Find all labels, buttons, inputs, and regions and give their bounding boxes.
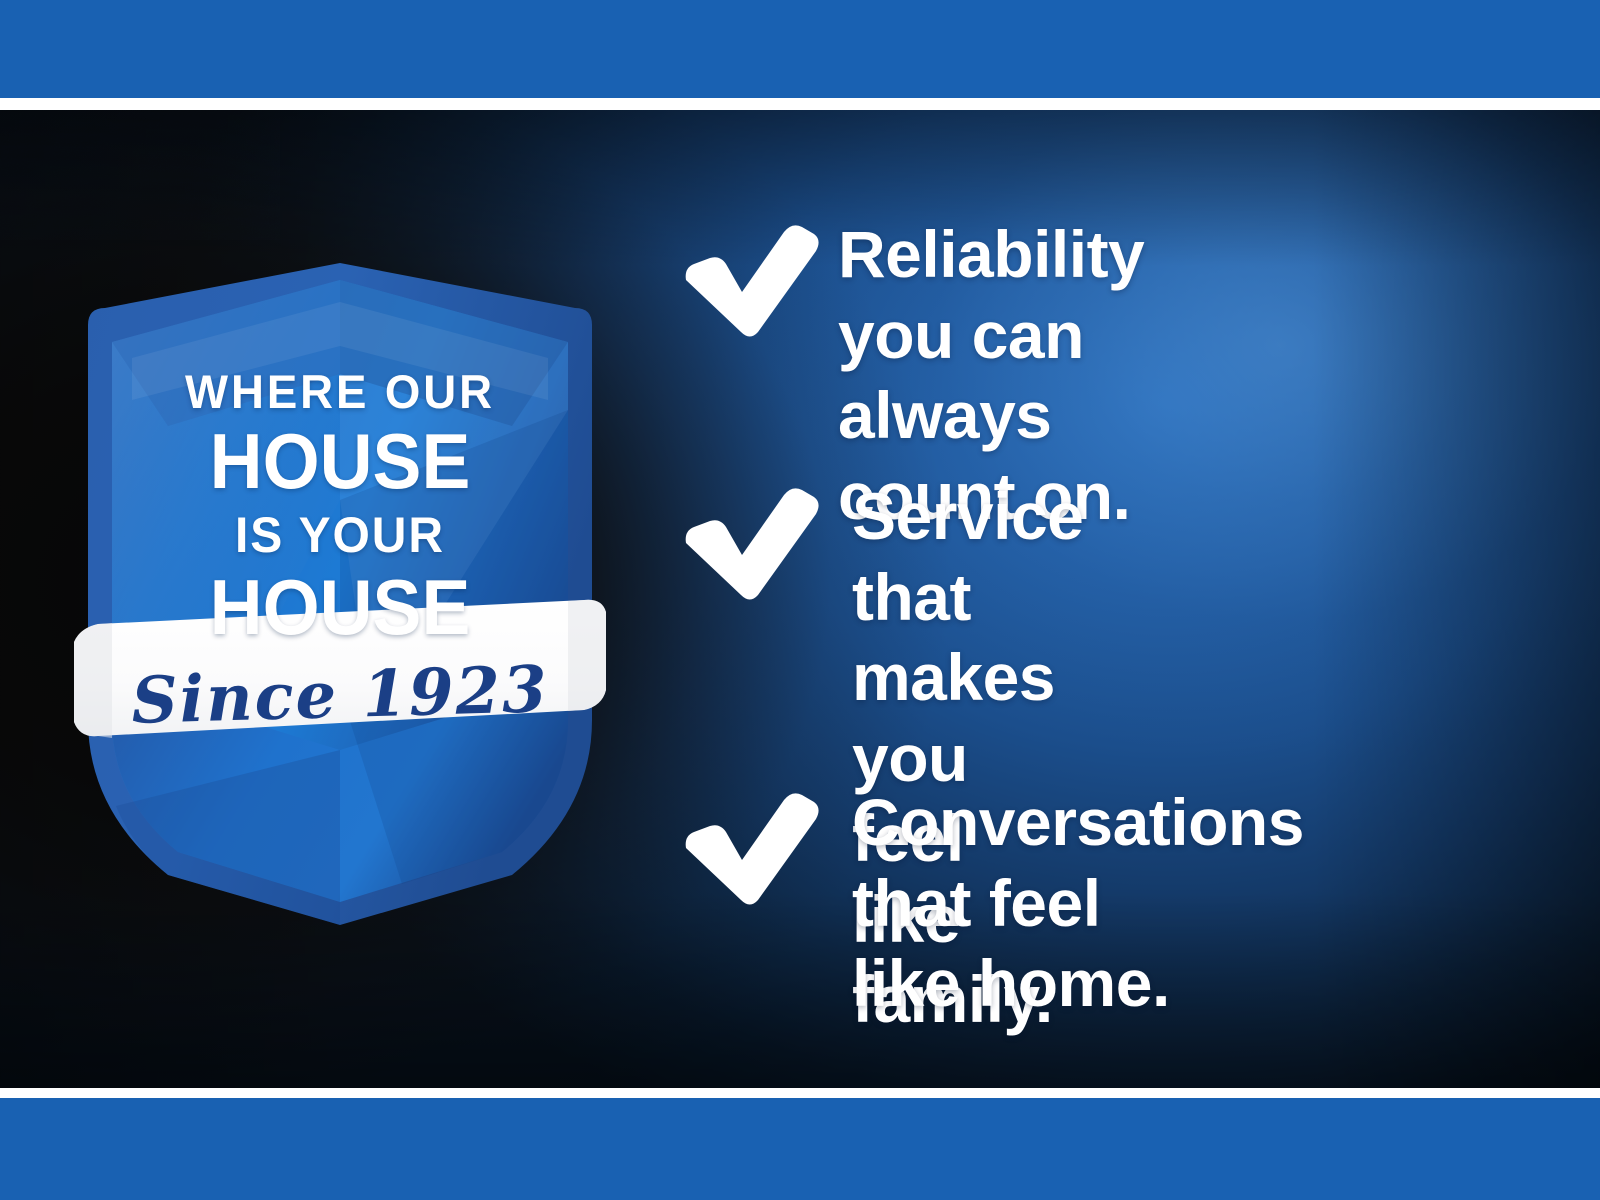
- checkmark-icon: [680, 222, 820, 338]
- checkmark-icon: [680, 790, 820, 906]
- benefits-list: Reliability you can always count on. Ser…: [0, 110, 1600, 1088]
- bottom-accent-bar: [0, 1098, 1600, 1200]
- promo-graphic: WHERE OUR HOUSE IS YOUR HOUSE Since 1923…: [0, 0, 1600, 1200]
- checkmark-icon: [680, 485, 820, 601]
- benefit-text-3: Conversations that feel like home.: [852, 782, 1304, 1024]
- top-accent-bar: [0, 0, 1600, 98]
